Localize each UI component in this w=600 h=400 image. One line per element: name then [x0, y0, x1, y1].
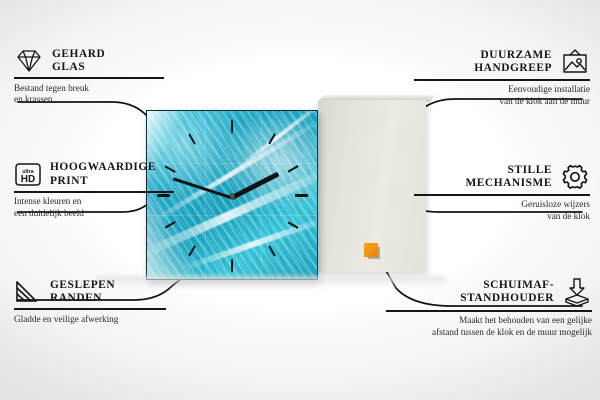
hanging-picture-icon: [560, 48, 590, 76]
spacer-down-arrow-icon: [562, 277, 592, 307]
feature-description: Maakt het behouden van een gelijke afsta…: [386, 315, 592, 338]
feature-divider: [14, 191, 174, 193]
feature-header: SCHUIMAF- STANDHOUDER: [386, 277, 592, 307]
feature-description: Intense kleuren en een duidelijk beeld: [14, 196, 182, 219]
tick-3: [295, 194, 308, 197]
feature-hoogwaardige-print: ultra HD HOOGWAARDIGE PRINT Intense kleu…: [14, 161, 182, 219]
tick-6: [231, 259, 233, 272]
feature-description: Bestand tegen breuk en krassen: [14, 83, 174, 106]
feature-stille-mechanisme: STILLE MECHANISME Geruisloze wijzers van…: [414, 163, 590, 222]
feature-header: GEHARD GLAS: [14, 48, 174, 74]
feature-description: Eenvoudige installatie van de klok aan d…: [414, 84, 590, 107]
feature-title: SCHUIMAF- STANDHOUDER: [460, 279, 554, 305]
feature-header: GESLEPEN RANDEN: [14, 279, 174, 305]
gear-icon: [560, 163, 590, 191]
feature-description: Geruisloze wijzers van de klok: [414, 199, 590, 222]
feature-divider: [414, 79, 590, 81]
feature-divider: [14, 308, 166, 310]
feature-title: GESLEPEN RANDEN: [50, 279, 115, 305]
feature-gehard-glas: GEHARD GLAS Bestand tegen breuk en krass…: [14, 48, 174, 105]
tick-12: [231, 120, 233, 133]
feature-geslepen-randen: GESLEPEN RANDEN Gladde en veilige afwerk…: [14, 279, 174, 325]
feature-title: STILLE MECHANISME: [465, 164, 552, 190]
feature-divider: [14, 77, 164, 79]
tick-11: [188, 133, 196, 145]
feature-schuimafstandhouder: SCHUIMAF- STANDHOUDER Maakt het behouden…: [386, 277, 592, 338]
feature-header: DUURZAME HANDGREEP: [414, 48, 590, 76]
ultra-hd-icon-bottom-label: HD: [21, 174, 35, 185]
product-infographic: GEHARD GLAS Bestand tegen breuk en krass…: [0, 0, 600, 400]
feature-description: Gladde en veilige afwerking: [14, 314, 174, 325]
feature-header: ultra HD HOOGWAARDIGE PRINT: [14, 161, 182, 188]
clock-hub: [230, 194, 235, 199]
feature-divider: [386, 310, 592, 312]
feature-title: DUURZAME HANDGREEP: [474, 49, 552, 75]
feature-duurzame-handgreep: DUURZAME HANDGREEP Eenvoudige installati…: [414, 48, 590, 107]
diamond-icon: [14, 48, 44, 74]
tick-7: [188, 245, 196, 257]
ultra-hd-icon: ultra HD: [14, 161, 42, 188]
bevelled-edges-icon: [14, 279, 42, 305]
feature-header: STILLE MECHANISME: [414, 163, 590, 191]
tick-2: [287, 165, 299, 173]
tick-5: [268, 245, 276, 257]
foam-spacer: [364, 243, 378, 257]
feature-title: GEHARD GLAS: [52, 48, 105, 74]
tick-8: [164, 221, 176, 229]
feature-title: HOOGWAARDIGE PRINT: [50, 161, 156, 187]
feature-divider: [414, 194, 590, 196]
